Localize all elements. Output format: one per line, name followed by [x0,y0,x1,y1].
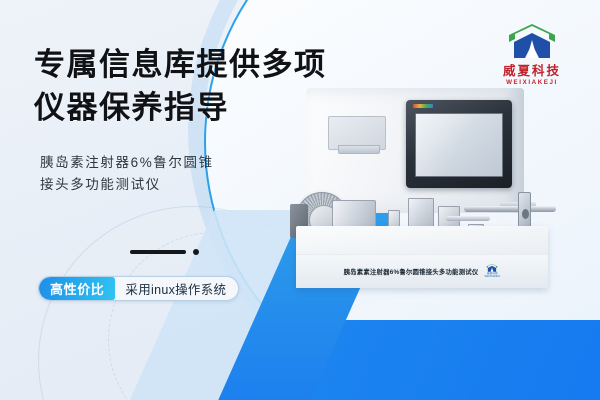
subheading: 胰岛素注射器6%鲁尔圆锥 接头多功能测试仪 [40,152,290,196]
machine-cabinet [306,88,524,213]
headline: 专属信息库提供多项 仪器保养指导 [34,44,327,130]
company-logo: 威夏科技 WEIXIAKEJI [488,22,576,86]
feature-badge: 高性价比 采用inux操作系统 [38,276,239,301]
hmi-brand-strip-icon [413,104,433,108]
machine-bracket-plate [328,116,386,150]
subheading-line-2: 接头多功能测试仪 [40,174,290,196]
machine-caption-logo-icon: 威夏科技 WEIXIAKEJI [484,263,500,279]
logo-company-name-en: WEIXIAKEJI [506,80,558,86]
product-machine: 胰岛素素注射器6%鲁尔圆锥接头多功能测试仪 威夏科技 WEIXIAKEJI [296,88,564,288]
badge-highlight-label: 高性价比 [39,277,115,300]
badge-detail-label: 采用inux操作系统 [115,277,238,300]
logo-hexagon-icon [506,22,558,62]
machine-caption-logo-en: WEIXIAKEJI [485,276,501,279]
machine-base: 胰岛素素注射器6%鲁尔圆锥接头多功能测试仪 威夏科技 WEIXIAKEJI [296,226,548,288]
product-banner: 专属信息库提供多项 仪器保养指导 胰岛素注射器6%鲁尔圆锥 接头多功能测试仪 高… [0,0,600,400]
divider-dot [193,249,199,255]
hmi-touch-panel[interactable] [406,100,512,188]
machine-caption-text: 胰岛素素注射器6%鲁尔圆锥接头多功能测试仪 [344,267,479,276]
divider-bar [130,250,186,254]
headline-line-2: 仪器保养指导 [34,87,327,130]
logo-company-name-cn: 威夏科技 [503,65,561,78]
hmi-screen[interactable] [415,113,503,177]
divider-mark [130,249,199,255]
headline-line-1: 专属信息库提供多项 [34,44,327,87]
machine-short-shaft [446,216,490,221]
machine-long-shaft [464,206,556,212]
subheading-line-1: 胰岛素注射器6%鲁尔圆锥 [40,152,290,174]
machine-caption: 胰岛素素注射器6%鲁尔圆锥接头多功能测试仪 威夏科技 WEIXIAKEJI [296,263,548,279]
